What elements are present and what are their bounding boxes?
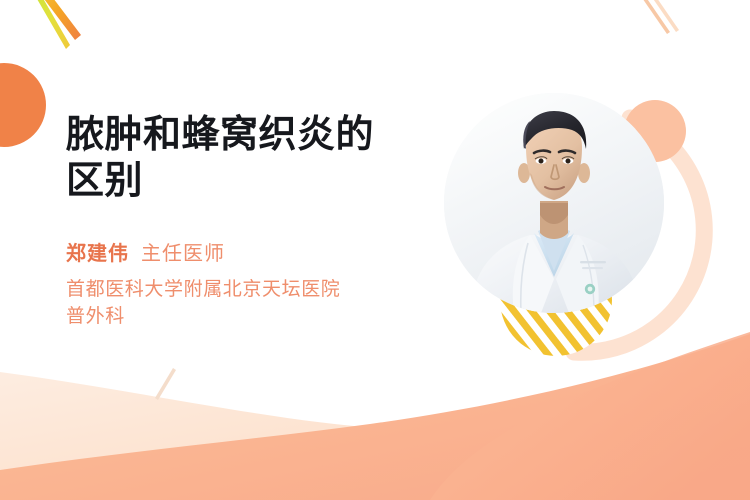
doctor-affiliation: 首都医科大学附属北京天坛医院 普外科 xyxy=(66,276,426,331)
portrait-disc xyxy=(444,93,664,313)
diagonal-stroke-peach-top-right xyxy=(638,0,670,34)
page-title: 脓肿和蜂窝织炎的 区别 xyxy=(66,112,426,205)
portrait-photo xyxy=(444,93,664,313)
byline: 郑建伟主任医师 xyxy=(66,237,426,266)
lecture-title-slide: 脓肿和蜂窝织炎的 区别 郑建伟主任医师 首都医科大学附属北京天坛医院 普外科 xyxy=(0,0,750,500)
diagonal-stroke-lime xyxy=(33,0,70,49)
diagonal-stroke-peach-top-right-2 xyxy=(647,0,679,32)
diagonal-stroke-faint-bottom xyxy=(155,368,176,400)
orange-circle-left xyxy=(0,63,46,147)
diagonal-stroke-orange xyxy=(38,0,81,40)
doctor-name: 郑建伟 xyxy=(66,243,129,265)
text-block: 脓肿和蜂窝织炎的 区别 郑建伟主任医师 首都医科大学附属北京天坛医院 普外科 xyxy=(66,112,426,331)
wave-bottom-pale xyxy=(0,352,750,500)
wave-bottom-salmon xyxy=(0,334,750,500)
doctor-portrait xyxy=(444,93,664,313)
doctor-title: 主任医师 xyxy=(141,243,225,265)
wave-bottom-salmon-right xyxy=(430,332,750,500)
